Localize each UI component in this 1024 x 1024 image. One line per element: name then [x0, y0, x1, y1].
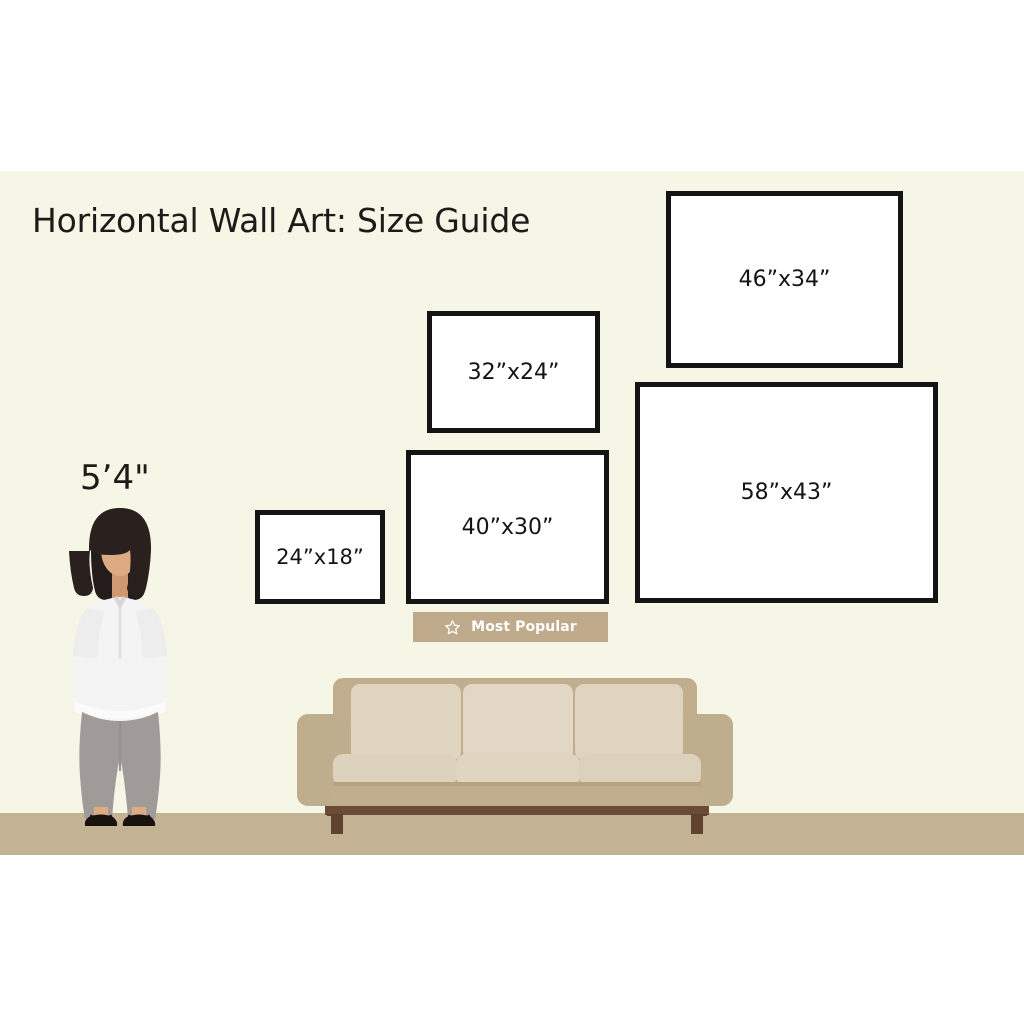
- three-seat-sofa: [295, 672, 735, 834]
- frame-size-label: 24”x18”: [276, 545, 364, 569]
- frame-size-label: 40”x30”: [462, 515, 554, 540]
- frame-40x30[interactable]: 40”x30”: [406, 450, 609, 604]
- frame-size-label: 58”x43”: [741, 480, 833, 505]
- frame-58x43[interactable]: 58”x43”: [635, 382, 938, 603]
- frame-size-label: 46”x34”: [739, 267, 831, 292]
- sofa-svg: [295, 672, 735, 834]
- woman-figure-svg: [58, 505, 182, 830]
- frame-32x24[interactable]: 32”x24”: [427, 311, 600, 433]
- frame-size-label: 32”x24”: [468, 360, 560, 385]
- star-outline-icon: [444, 619, 461, 636]
- frame-46x34[interactable]: 46”x34”: [666, 191, 903, 368]
- most-popular-label: Most Popular: [471, 619, 577, 635]
- size-guide-illustration: Horizontal Wall Art: Size Guide 5’4": [0, 0, 1024, 1024]
- page-title: Horizontal Wall Art: Size Guide: [32, 201, 530, 240]
- most-popular-badge: Most Popular: [413, 612, 608, 642]
- woman-standing-figure: [58, 505, 182, 830]
- frame-24x18[interactable]: 24”x18”: [255, 510, 385, 604]
- person-height-label: 5’4": [80, 458, 150, 498]
